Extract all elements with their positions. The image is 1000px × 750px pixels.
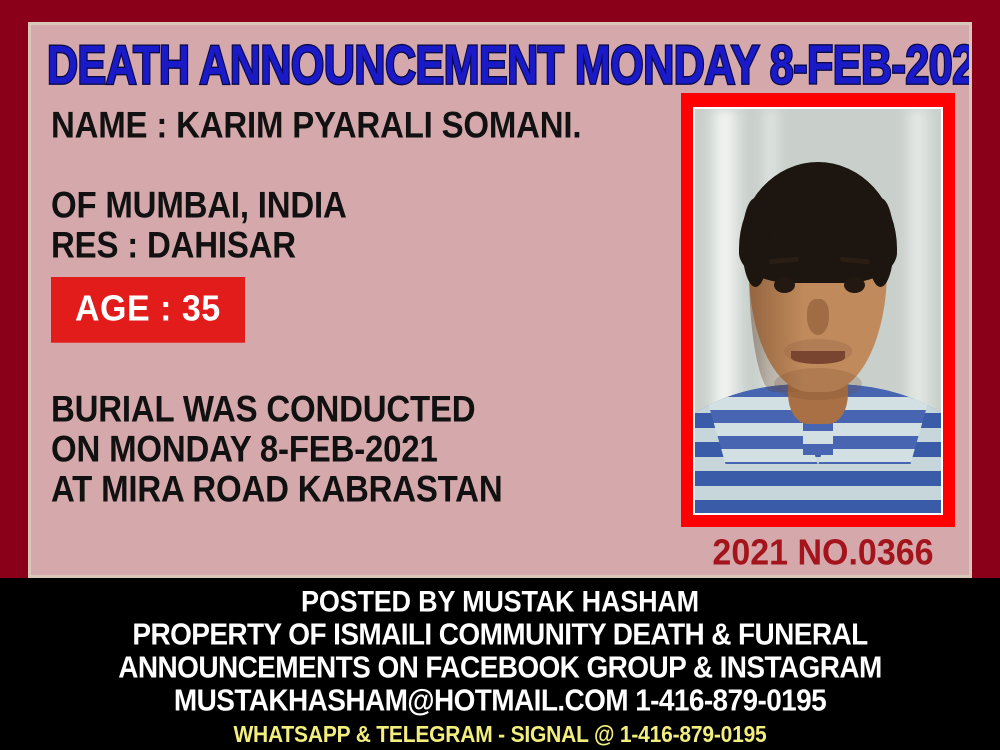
city-line: OF MUMBAI, INDIA — [51, 183, 691, 228]
deceased-details: NAME : KARIM PYARALI SOMANI. OF MUMBAI, … — [51, 103, 691, 507]
spacer-before-burial — [51, 357, 691, 387]
burial-line-1: BURIAL WAS CONDUCTED — [51, 387, 691, 432]
eye-left — [774, 277, 795, 293]
nose — [807, 299, 829, 335]
age-badge-wrapper: AGE : 35 — [51, 277, 691, 339]
portrait-photo-frame — [681, 93, 955, 527]
portrait-photo — [695, 109, 941, 513]
burial-line-3: AT MIRA ROAD KABRASTAN — [51, 467, 691, 512]
footer-line-property: PROPERTY OF ISMAILI COMMUNITY DEATH & FU… — [0, 616, 1000, 652]
status-badge-age: AGE : 35 — [51, 277, 245, 343]
footer-line-messaging: WHATSAPP & TELEGRAM - SIGNAL @ 1-416-879… — [0, 720, 1000, 750]
spacer-after-name — [51, 143, 691, 183]
hair-side-left — [742, 198, 769, 287]
footer-line-contact: MUSTAKHASHAM@HOTMAIL.COM 1-416-879-0195 — [0, 682, 1000, 718]
name-line: NAME : KARIM PYARALI SOMANI. — [51, 103, 691, 148]
page-title: DEATH ANNOUNCEMENT MONDAY 8-FEB-2021 — [47, 35, 959, 98]
announcement-card-frame: DEATH ANNOUNCEMENT MONDAY 8-FEB-2021 NAM… — [28, 22, 972, 578]
footer-credits: POSTED BY MUSTAK HASHAM PROPERTY OF ISMA… — [0, 578, 1000, 750]
announcement-card: DEATH ANNOUNCEMENT MONDAY 8-FEB-2021 NAM… — [31, 25, 969, 575]
death-announcement-poster: DEATH ANNOUNCEMENT MONDAY 8-FEB-2021 NAM… — [0, 0, 1000, 750]
hair-side-right — [867, 198, 894, 287]
portrait-photo-matte — [693, 107, 943, 515]
footer-line-announcements: ANNOUNCEMENTS ON FACEBOOK GROUP & INSTAG… — [0, 649, 1000, 685]
eye-right — [844, 277, 865, 293]
burial-line-2: ON MONDAY 8-FEB-2021 — [51, 427, 691, 472]
residence-line: RES : DAHISAR — [51, 223, 691, 268]
chin-shading — [774, 368, 863, 400]
footer-line-posted-by: POSTED BY MUSTAK HASHAM — [0, 584, 1000, 619]
reference-number: 2021 NO.0366 — [683, 533, 963, 574]
